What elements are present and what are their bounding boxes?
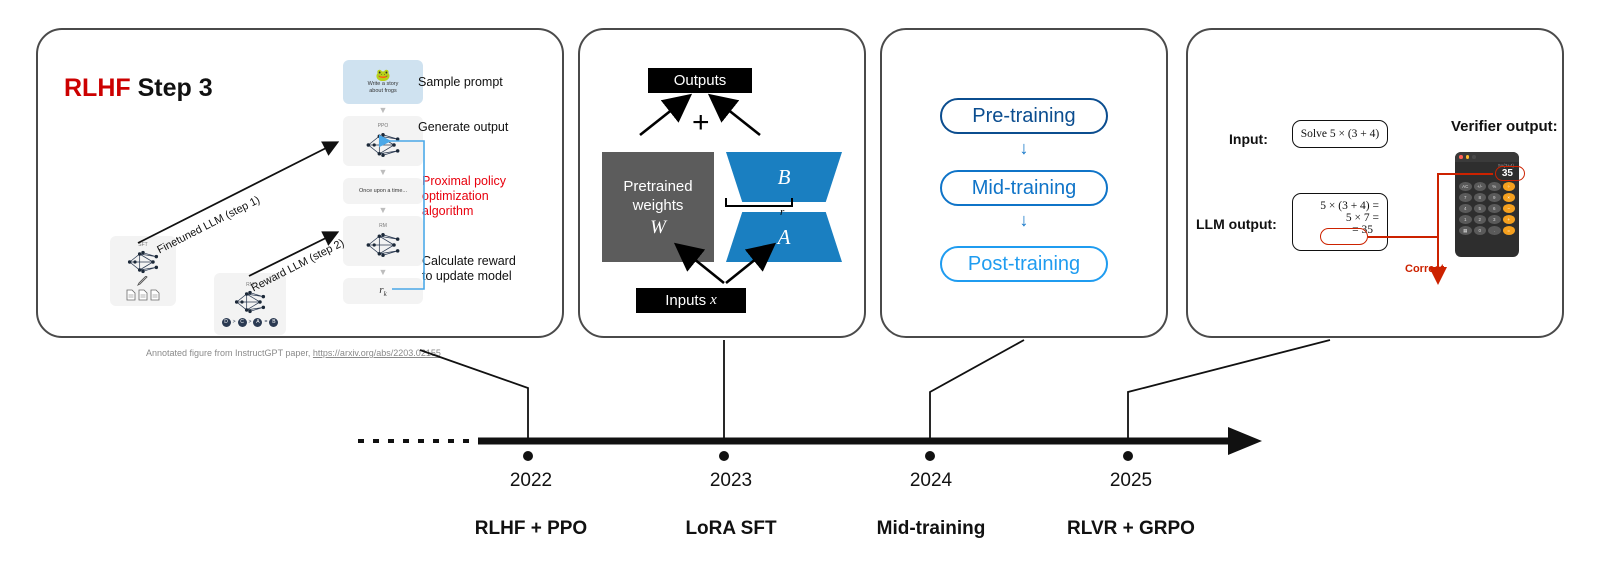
timeline-tick-2024 xyxy=(925,451,935,461)
stage-mid-training[interactable]: Mid-training xyxy=(940,170,1108,206)
calc-key[interactable]: × xyxy=(1503,193,1516,202)
rank-badge: B xyxy=(269,318,278,327)
timeline-event-mid-training: Mid-training xyxy=(841,518,1021,540)
llm-output-label: LLM output: xyxy=(1196,216,1277,232)
timeline-year-2022: 2022 xyxy=(471,470,591,492)
calc-key[interactable]: 0 xyxy=(1474,226,1487,235)
calculator-result-highlight xyxy=(1495,166,1525,181)
calc-key[interactable]: 5 xyxy=(1474,204,1487,213)
reward-value-text: rk xyxy=(379,284,386,298)
neural-net-icon xyxy=(123,248,163,276)
inputs-block: Inputsx xyxy=(636,288,746,313)
timeline-tick-2025 xyxy=(1123,451,1133,461)
rank-badge: D xyxy=(222,318,231,327)
document-icon-row xyxy=(126,289,160,301)
reward-model-box: RM xyxy=(343,216,423,266)
input-label: Input: xyxy=(1229,131,1268,147)
lora-rank-label: r xyxy=(780,206,784,218)
panel-rlhf: RLHF Step 3 🐸 Write a storyabout frogs ▼… xyxy=(36,28,564,338)
stage-post-training[interactable]: Post-training xyxy=(940,246,1108,282)
calc-key[interactable]: ▦ xyxy=(1459,226,1472,235)
timeline-arrowhead xyxy=(1228,427,1262,455)
calc-key[interactable]: +/- xyxy=(1474,182,1487,191)
timeline-event-rlhf-ppo: RLHF + PPO xyxy=(441,518,621,540)
reward-value-box: rk xyxy=(343,278,423,304)
calc-key[interactable]: 2 xyxy=(1474,215,1487,224)
arrow-label-finetuned-llm: Finetuned LLM (step 1) xyxy=(155,194,262,256)
figure-caption: Annotated figure from InstructGPT paper,… xyxy=(146,348,441,358)
calc-key[interactable]: 3 xyxy=(1488,215,1501,224)
neural-net-icon xyxy=(361,130,405,160)
rlhf-title-accent: RLHF xyxy=(64,74,131,102)
reward-model-tag: RM xyxy=(379,223,387,229)
calculator-titlebar xyxy=(1455,152,1519,162)
rank-separator: > xyxy=(249,319,252,325)
timeline-event-lora-sft: LoRA SFT xyxy=(641,518,821,540)
calc-key[interactable]: . xyxy=(1488,226,1501,235)
panel-timeline-connectors xyxy=(420,340,1330,441)
document-icon xyxy=(138,289,148,301)
rank-badge: C xyxy=(238,318,247,327)
ppo-model-tag: PPO xyxy=(378,123,389,129)
outputs-block: Outputs xyxy=(648,68,752,93)
note-calculate-reward: Calculate rewardto update model xyxy=(422,254,516,284)
timeline-tick-2023 xyxy=(719,451,729,461)
completion-text: Once upon a time... xyxy=(359,188,407,195)
calc-key[interactable]: 6 xyxy=(1488,204,1501,213)
caption-link[interactable]: https://arxiv.org/abs/2203.02155 xyxy=(313,348,441,358)
timeline-axis xyxy=(358,427,1262,461)
lora-matrix-b: B xyxy=(726,152,842,202)
input-value-box: Solve 5 × (3 + 4) xyxy=(1292,120,1388,148)
pretrained-line1: Pretrained xyxy=(623,177,692,196)
pretrained-weights-block: Pretrained weights W xyxy=(602,152,714,262)
arrow-down-icon: ↓ xyxy=(1018,210,1030,231)
figure-canvas: RLHF Step 3 🐸 Write a storyabout frogs ▼… xyxy=(0,0,1600,576)
calc-key[interactable]: − xyxy=(1503,204,1516,213)
llm-output-line-1: 5 × (3 + 4) = xyxy=(1293,200,1379,212)
maximize-icon[interactable] xyxy=(1472,155,1476,159)
rlhf-flow-column: 🐸 Write a storyabout frogs ▼ PPO xyxy=(343,60,423,304)
note-ppo-algorithm: Proximal policyoptimizationalgorithm xyxy=(422,174,506,219)
input-value-text: Solve 5 × (3 + 4) xyxy=(1301,128,1379,140)
calc-key[interactable]: 4 xyxy=(1459,204,1472,213)
document-icon xyxy=(126,289,136,301)
verdict-label: Correct xyxy=(1405,263,1444,275)
lora-matrix-a: A xyxy=(726,212,842,262)
timeline-year-2023: 2023 xyxy=(671,470,791,492)
ppo-model-box: PPO xyxy=(343,116,423,166)
timeline-year-2024: 2024 xyxy=(871,470,991,492)
calc-key[interactable]: 1 xyxy=(1459,215,1472,224)
minimize-icon[interactable] xyxy=(1466,155,1470,159)
ranking-badges: D > C > A = B xyxy=(222,318,279,327)
timeline-tick-2022 xyxy=(523,451,533,461)
timeline-year-2025: 2025 xyxy=(1071,470,1191,492)
caption-prefix: Annotated figure from InstructGPT paper, xyxy=(146,348,313,358)
calc-key[interactable]: ÷ xyxy=(1503,182,1516,191)
sample-prompt-box: 🐸 Write a storyabout frogs xyxy=(343,60,423,104)
stage-pre-training[interactable]: Pre-training xyxy=(940,98,1108,134)
arrow-down-icon: ↓ xyxy=(1018,138,1030,159)
rank-separator: > xyxy=(233,319,236,325)
arrow-down-icon: ▼ xyxy=(343,266,423,278)
calc-key[interactable]: 9 xyxy=(1488,193,1501,202)
calculator-keypad[interactable]: AC +/- % ÷ 7 8 9 × 4 5 6 − 1 2 3 + ▦ 0 .… xyxy=(1455,179,1519,238)
pretrained-line2: weights xyxy=(633,196,684,215)
sample-prompt-text: Write a storyabout frogs xyxy=(368,81,399,95)
frog-icon: 🐸 xyxy=(376,69,391,81)
arrow-label-reward-llm: Reward LLM (step 2) xyxy=(249,237,346,294)
plus-symbol: + xyxy=(692,108,710,138)
close-icon[interactable] xyxy=(1459,155,1463,159)
pencil-icon xyxy=(137,276,149,286)
rank-separator: = xyxy=(264,319,267,325)
calc-key[interactable]: % xyxy=(1488,182,1501,191)
note-sample-prompt: Sample prompt xyxy=(418,75,503,90)
inputs-variable: x xyxy=(706,292,717,309)
completion-box: Once upon a time... xyxy=(343,178,423,204)
arrow-down-icon: ▼ xyxy=(343,204,423,216)
rank-badge: A xyxy=(253,318,262,327)
arrow-down-icon: ▼ xyxy=(343,104,423,116)
pretrained-weight-symbol: W xyxy=(650,218,666,237)
calc-key[interactable]: AC xyxy=(1459,182,1472,191)
calc-key[interactable]: + xyxy=(1503,215,1516,224)
verifier-output-label: Verifier output: xyxy=(1451,118,1558,135)
calc-key[interactable]: = xyxy=(1503,226,1516,235)
document-icon xyxy=(150,289,160,301)
calc-key[interactable]: 7 xyxy=(1459,193,1472,202)
arrow-down-icon: ▼ xyxy=(343,166,423,178)
timeline-event-rlvr-grpo: RLVR + GRPO xyxy=(1041,518,1221,540)
panel-rlhf-title: RLHF Step 3 xyxy=(64,74,213,103)
panel-lora: Outputs + Pretrained weights W B A r Inp… xyxy=(578,28,866,338)
llm-output-line-2: 5 × 7 = xyxy=(1293,212,1379,224)
calc-key[interactable]: 8 xyxy=(1474,193,1487,202)
neural-net-icon xyxy=(230,288,270,316)
inputs-label: Inputs xyxy=(665,292,706,309)
llm-answer-highlight xyxy=(1320,228,1368,245)
note-generate-output: Generate output xyxy=(418,120,508,135)
neural-net-icon xyxy=(361,230,405,260)
rlhf-title-rest: Step 3 xyxy=(131,74,213,102)
